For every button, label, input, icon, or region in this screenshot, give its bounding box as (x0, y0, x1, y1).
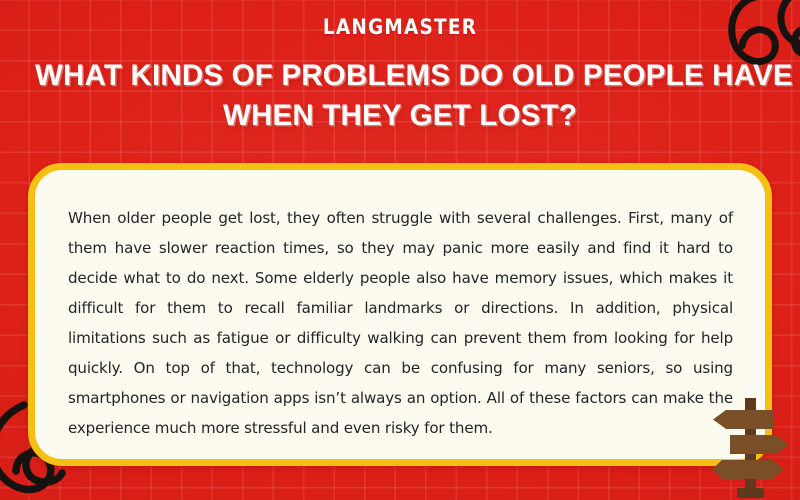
page-title-line-1: WHAT KINDS OF PROBLEMS DO OLD PEOPLE HAV… (35, 56, 765, 96)
answer-card: When older people get lost, they often s… (28, 163, 772, 466)
brand-logo: LANGMASTER (56, 17, 744, 39)
poster-header: LANGMASTER WHAT KINDS OF PROBLEMS DO OLD… (0, 0, 800, 136)
page-title: WHAT KINDS OF PROBLEMS DO OLD PEOPLE HAV… (35, 56, 765, 136)
page-title-line-2: WHEN THEY GET LOST? (35, 96, 765, 136)
poster-canvas: LANGMASTER WHAT KINDS OF PROBLEMS DO OLD… (0, 0, 800, 500)
answer-paragraph: When older people get lost, they often s… (35, 170, 765, 443)
